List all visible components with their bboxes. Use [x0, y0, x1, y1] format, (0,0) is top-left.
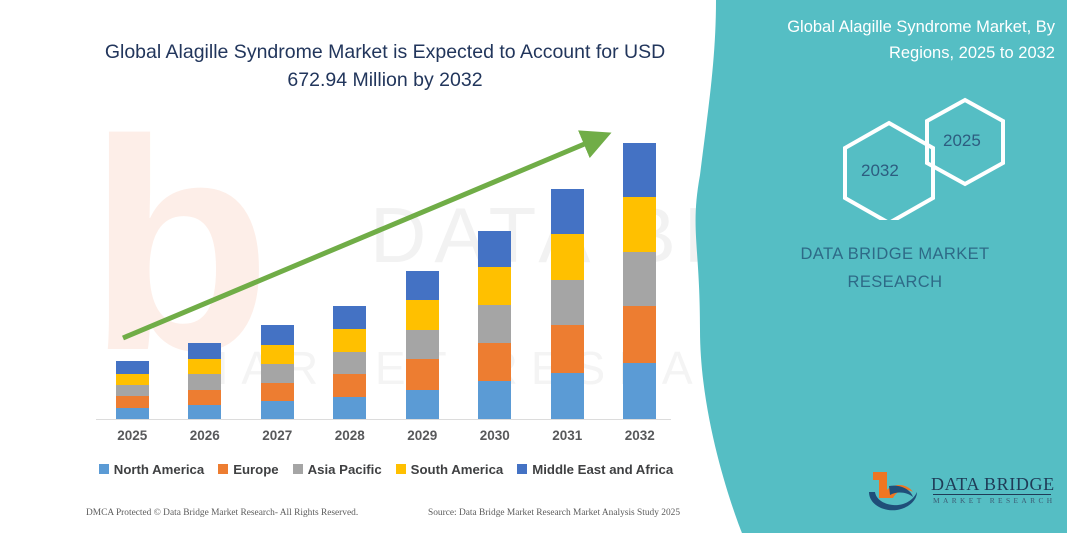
bar-segment: [188, 405, 221, 420]
bar-2027[interactable]: [261, 325, 294, 420]
legend-swatch-icon: [396, 464, 406, 474]
legend-label: North America: [114, 462, 204, 477]
bar-2029[interactable]: [406, 271, 439, 420]
logo-mark-icon: [863, 470, 929, 514]
bar-segment: [551, 373, 584, 420]
bar-segment: [478, 305, 511, 343]
x-label-2025: 2025: [102, 428, 162, 443]
bar-segment: [478, 267, 511, 305]
bar-segment: [551, 280, 584, 326]
panel-title: Global Alagille Syndrome Market, By Regi…: [735, 14, 1055, 66]
bar-segment: [261, 364, 294, 383]
legend-label: South America: [411, 462, 504, 477]
bar-segment: [623, 306, 656, 363]
panel-brand-line2: RESEARCH: [848, 273, 943, 291]
legend-item[interactable]: South America: [396, 462, 504, 477]
bar-segment: [406, 330, 439, 359]
hexagon-group: 2025 2032: [815, 90, 1065, 220]
bar-segment: [333, 374, 366, 397]
legend-swatch-icon: [99, 464, 109, 474]
bar-segment: [116, 396, 149, 407]
legend-item[interactable]: Middle East and Africa: [517, 462, 673, 477]
legend-item[interactable]: Asia Pacific: [293, 462, 382, 477]
legend-swatch-icon: [517, 464, 527, 474]
panel-brand-line1: DATA BRIDGE MARKET: [800, 245, 989, 263]
legend-label: Middle East and Africa: [532, 462, 673, 477]
x-label-2029: 2029: [392, 428, 452, 443]
bar-segment: [333, 329, 366, 352]
bar-segment: [261, 401, 294, 420]
bar-segment: [551, 234, 584, 280]
bar-segment: [551, 189, 584, 235]
logo-title: DATA BRIDGE: [931, 474, 1055, 495]
bar-segment: [333, 352, 366, 375]
bar-2028[interactable]: [333, 306, 366, 420]
bar-segment: [188, 390, 221, 405]
chart-legend: North AmericaEuropeAsia PacificSouth Ame…: [96, 459, 676, 479]
bar-2026[interactable]: [188, 343, 221, 420]
panel-content: Global Alagille Syndrome Market, By Regi…: [735, 0, 1067, 533]
legend-swatch-icon: [218, 464, 228, 474]
bar-chart-plot: [96, 120, 676, 420]
bar-segment: [478, 231, 511, 267]
x-axis-line: [96, 419, 671, 420]
bar-segment: [333, 397, 366, 420]
bar-segment: [406, 300, 439, 329]
bar-segment: [406, 271, 439, 300]
bar-segment: [623, 252, 656, 306]
bar-segment: [333, 306, 366, 329]
legend-label: Europe: [233, 462, 278, 477]
bar-2032[interactable]: [623, 143, 656, 420]
bar-segment: [261, 345, 294, 364]
hexagon-label-2025: 2025: [943, 131, 981, 151]
bar-segment: [261, 325, 294, 345]
panel-brand: DATA BRIDGE MARKET RESEARCH: [735, 240, 1055, 296]
bar-segment: [116, 385, 149, 396]
bar-2030[interactable]: [478, 231, 511, 420]
infographic-canvas: b DATA BRIDGE MARKET RESEARCH Global Ala…: [0, 0, 1067, 533]
x-label-2028: 2028: [320, 428, 380, 443]
bar-segment: [623, 363, 656, 420]
x-axis-labels: 20252026202720282029203020312032: [96, 428, 676, 450]
bar-segment: [116, 361, 149, 373]
bar-segment: [478, 343, 511, 381]
bar-segment: [188, 343, 221, 359]
footer-source: Source: Data Bridge Market Research Mark…: [428, 508, 680, 518]
bar-2025[interactable]: [116, 361, 149, 420]
legend-item[interactable]: Europe: [218, 462, 278, 477]
footer: DMCA Protected © Data Bridge Market Rese…: [0, 508, 700, 528]
chart-title: Global Alagille Syndrome Market is Expec…: [80, 38, 690, 94]
legend-item[interactable]: North America: [99, 462, 204, 477]
bar-segment: [406, 359, 439, 389]
bar-2031[interactable]: [551, 189, 584, 420]
hexagon-label-2032: 2032: [861, 161, 899, 181]
x-label-2031: 2031: [537, 428, 597, 443]
legend-swatch-icon: [293, 464, 303, 474]
bar-segment: [551, 325, 584, 372]
x-label-2026: 2026: [175, 428, 235, 443]
logo-subtitle: MARKET RESEARCH: [933, 496, 1056, 505]
company-logo: DATA BRIDGE MARKET RESEARCH: [863, 470, 1063, 518]
x-label-2030: 2030: [465, 428, 525, 443]
bar-segment: [188, 359, 221, 374]
bar-segment: [623, 143, 656, 197]
x-label-2027: 2027: [247, 428, 307, 443]
logo-divider: [933, 494, 1051, 495]
footer-copyright: DMCA Protected © Data Bridge Market Rese…: [86, 508, 358, 518]
bar-segment: [406, 390, 439, 420]
x-label-2032: 2032: [610, 428, 670, 443]
bar-segment: [261, 383, 294, 401]
hexagon-shapes-icon: [815, 90, 1065, 220]
bar-segment: [188, 374, 221, 389]
bar-segment: [116, 374, 149, 385]
bar-segment: [623, 197, 656, 252]
bar-segment: [478, 381, 511, 420]
legend-label: Asia Pacific: [308, 462, 382, 477]
